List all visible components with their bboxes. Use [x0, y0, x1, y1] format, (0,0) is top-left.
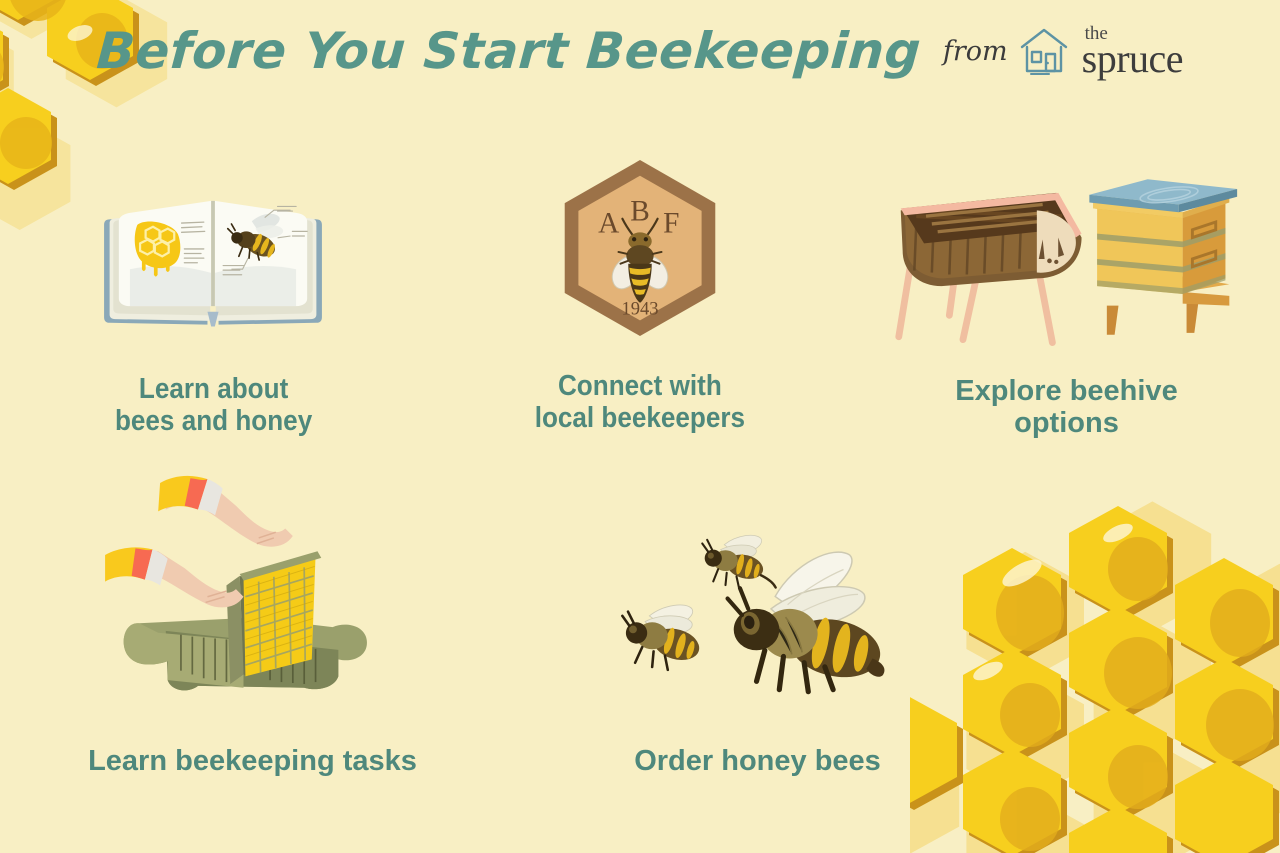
- badge-letter-f: F: [663, 207, 679, 239]
- house-icon: [1018, 25, 1070, 77]
- brand-logo[interactable]: from the spruce: [943, 25, 1183, 77]
- beehives-icon: [891, 150, 1241, 346]
- item-caption: Learn about bees and honey: [115, 374, 312, 438]
- open-book-icon: [93, 150, 333, 346]
- item-caption: Learn beekeeping tasks: [88, 746, 417, 778]
- item-explore-beehives[interactable]: Explore beehive options: [853, 150, 1280, 440]
- page-title: Before You Start Beekeeping: [95, 22, 923, 80]
- badge-letter-a: A: [598, 207, 619, 239]
- brand-spruce-label: spruce: [1082, 42, 1183, 76]
- item-caption: Explore beehive options: [955, 376, 1177, 440]
- badge-year: 1943: [621, 299, 658, 320]
- item-beekeeping-tasks[interactable]: Learn beekeeping tasks: [0, 470, 505, 778]
- infographic-canvas: Before You Start Beekeeping from the: [0, 0, 1280, 853]
- header: Before You Start Beekeeping from the: [0, 22, 1280, 80]
- items-row-bottom: Learn beekeeping tasks: [0, 470, 1010, 778]
- flying-bees-icon: [615, 470, 901, 720]
- item-connect-beekeepers[interactable]: A B F: [427, 150, 854, 440]
- item-caption: Order honey bees: [634, 746, 881, 778]
- items-row-top: Learn about bees and honey A B F: [0, 150, 1280, 440]
- badge-letter-b: B: [630, 196, 650, 228]
- brand-from-label: from: [943, 36, 1008, 67]
- abf-hexagon-badge-icon: A B F: [552, 150, 728, 346]
- item-learn-about-bees[interactable]: Learn about bees and honey: [0, 150, 427, 440]
- item-caption: Connect with local beekeepers: [535, 371, 745, 435]
- hands-lifting-frame-icon: [98, 470, 408, 720]
- item-order-honey-bees[interactable]: Order honey bees: [505, 470, 1010, 778]
